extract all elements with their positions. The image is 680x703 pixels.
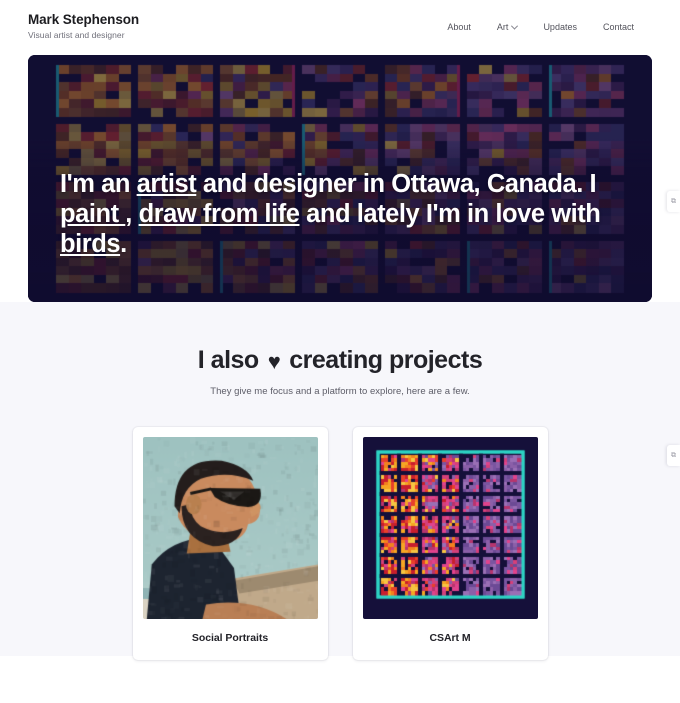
projects-title-after: creating projects (289, 347, 482, 375)
heart-icon: ♥ (268, 351, 281, 373)
project-card-social-portraits[interactable]: Social Portraits (133, 427, 328, 660)
nav-item-contact[interactable]: Contact (603, 22, 634, 32)
hero-section: I'm an artist and designer in Ottawa, Ca… (0, 55, 680, 302)
hero-link-3[interactable]: paint (60, 200, 125, 228)
nav-label-about: About (447, 22, 471, 32)
hero-text-8: . (120, 230, 127, 258)
projects-section: I also ♥ creating projects They give me … (0, 302, 680, 656)
nav-label-art: Art (497, 22, 509, 32)
nav-item-about[interactable]: About (447, 22, 471, 32)
project-thumbnail-portrait (143, 437, 318, 619)
hero-banner: I'm an artist and designer in Ottawa, Ca… (28, 55, 652, 302)
site-header: Mark Stephenson Visual artist and design… (0, 0, 680, 55)
nav-item-updates[interactable]: Updates (543, 22, 577, 32)
project-card-csart-m[interactable]: CSArt M (353, 427, 548, 660)
hero-text-0: I'm an (60, 170, 137, 198)
brand-tagline: Visual artist and designer (28, 30, 139, 40)
hero-text-4: , (125, 200, 138, 228)
projects-subtitle: They give me focus and a platform to exp… (0, 386, 680, 397)
edge-tab-top[interactable]: ⧉ (667, 191, 680, 212)
primary-nav: About Art Updates Contact (447, 13, 634, 32)
nav-label-updates: Updates (543, 22, 577, 32)
hero-link-1[interactable]: artist (137, 170, 197, 198)
projects-card-list: Social Portraits CSArt M (0, 427, 680, 660)
project-card-title: Social Portraits (192, 619, 268, 660)
hero-headline: I'm an artist and designer in Ottawa, Ca… (60, 169, 626, 259)
project-card-title: CSArt M (429, 619, 470, 660)
brand-name: Mark Stephenson (28, 13, 139, 28)
nav-item-art[interactable]: Art (497, 22, 518, 32)
projects-title-before: I also (198, 347, 259, 375)
nav-label-contact: Contact (603, 22, 634, 32)
hero-link-5[interactable]: draw from life (139, 200, 300, 228)
chevron-down-icon (511, 22, 518, 29)
edge-tab-bottom[interactable]: ⧉ (667, 445, 680, 466)
hero-link-7[interactable]: birds (60, 230, 120, 258)
projects-title: I also ♥ creating projects (0, 347, 680, 375)
project-thumbnail-pixelgrid (363, 437, 538, 619)
page-root: Mark Stephenson Visual artist and design… (0, 0, 680, 703)
brand[interactable]: Mark Stephenson Visual artist and design… (28, 13, 139, 40)
hero-text-2: and designer in Ottawa, Canada. I (196, 170, 596, 198)
hero-text-6: and lately I'm in love with (299, 200, 600, 228)
